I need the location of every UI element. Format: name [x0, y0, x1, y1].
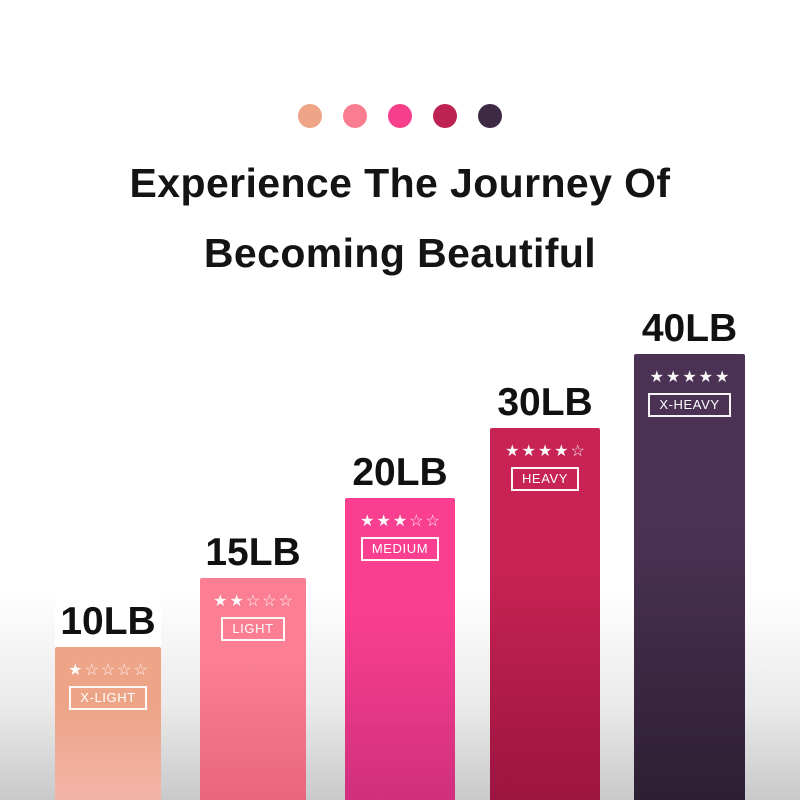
star-empty-icon: ☆ [246, 594, 260, 610]
star-empty-icon: ☆ [101, 663, 115, 679]
star-filled-icon: ★ [521, 444, 535, 460]
level-badge-light: LIGHT [221, 617, 284, 641]
bar-gap-shadow-1 [161, 590, 200, 800]
bar-10lb[interactable]: ★☆☆☆☆X-LIGHT [55, 647, 161, 800]
star-filled-icon: ★ [650, 370, 664, 386]
bar-weight-label-40lb: 40LB [642, 309, 737, 348]
star-rating-15lb: ★★☆☆☆ [213, 594, 293, 610]
bar-group-30lb: 30LB★★★★☆HEAVY [490, 368, 600, 800]
star-rating-10lb: ★☆☆☆☆ [68, 663, 148, 679]
bar-30lb[interactable]: ★★★★☆HEAVY [490, 428, 600, 800]
edge-shadow-2 [745, 590, 800, 800]
bar-content-10lb: ★☆☆☆☆X-LIGHT [55, 663, 161, 710]
star-filled-icon: ★ [682, 370, 696, 386]
resistance-band-bar-chart: 10LB★☆☆☆☆X-LIGHT15LB★★☆☆☆LIGHT20LB★★★☆☆M… [0, 0, 800, 800]
level-badge-heavy: HEAVY [511, 467, 579, 491]
edge-shadow-1 [0, 590, 55, 800]
bar-gap-shadow-3 [455, 590, 490, 800]
bar-gap-shadow-4 [600, 590, 634, 800]
bar-20lb[interactable]: ★★★☆☆MEDIUM [345, 498, 455, 800]
bar-content-15lb: ★★☆☆☆LIGHT [200, 594, 306, 641]
star-filled-icon: ★ [715, 370, 729, 386]
level-badge-x-light: X-LIGHT [69, 686, 146, 710]
star-filled-icon: ★ [666, 370, 680, 386]
star-empty-icon: ☆ [84, 663, 98, 679]
bar-weight-label-10lb: 10LB [60, 602, 155, 641]
star-empty-icon: ☆ [279, 594, 293, 610]
bar-40lb[interactable]: ★★★★★X-HEAVY [634, 354, 745, 800]
promo-infographic: Experience The Journey Of Becoming Beaut… [0, 0, 800, 800]
star-filled-icon: ★ [376, 514, 390, 530]
bar-gap-shadow-2 [306, 590, 345, 800]
bar-weight-label-30lb: 30LB [497, 383, 592, 422]
star-filled-icon: ★ [68, 663, 82, 679]
bar-group-40lb: 40LB★★★★★X-HEAVY [634, 294, 745, 800]
star-filled-icon: ★ [554, 444, 568, 460]
bar-group-20lb: 20LB★★★☆☆MEDIUM [345, 438, 455, 800]
star-filled-icon: ★ [360, 514, 374, 530]
bar-weight-label-15lb: 15LB [205, 533, 300, 572]
bar-content-20lb: ★★★☆☆MEDIUM [345, 514, 455, 561]
star-filled-icon: ★ [699, 370, 713, 386]
star-empty-icon: ☆ [571, 444, 585, 460]
star-empty-icon: ☆ [262, 594, 276, 610]
star-filled-icon: ★ [229, 594, 243, 610]
star-rating-20lb: ★★★☆☆ [360, 514, 440, 530]
bar-weight-label-20lb: 20LB [352, 453, 447, 492]
star-empty-icon: ☆ [117, 663, 131, 679]
bar-15lb[interactable]: ★★☆☆☆LIGHT [200, 578, 306, 800]
star-filled-icon: ★ [393, 514, 407, 530]
star-filled-icon: ★ [505, 444, 519, 460]
bar-content-30lb: ★★★★☆HEAVY [490, 444, 600, 491]
star-filled-icon: ★ [538, 444, 552, 460]
star-empty-icon: ☆ [409, 514, 423, 530]
bar-content-40lb: ★★★★★X-HEAVY [634, 370, 745, 417]
star-rating-40lb: ★★★★★ [650, 370, 730, 386]
level-badge-x-heavy: X-HEAVY [648, 393, 730, 417]
star-filled-icon: ★ [213, 594, 227, 610]
star-rating-30lb: ★★★★☆ [505, 444, 585, 460]
bar-group-15lb: 15LB★★☆☆☆LIGHT [200, 518, 306, 800]
star-empty-icon: ☆ [134, 663, 148, 679]
star-empty-icon: ☆ [426, 514, 440, 530]
level-badge-medium: MEDIUM [361, 537, 439, 561]
bar-group-10lb: 10LB★☆☆☆☆X-LIGHT [55, 587, 161, 800]
